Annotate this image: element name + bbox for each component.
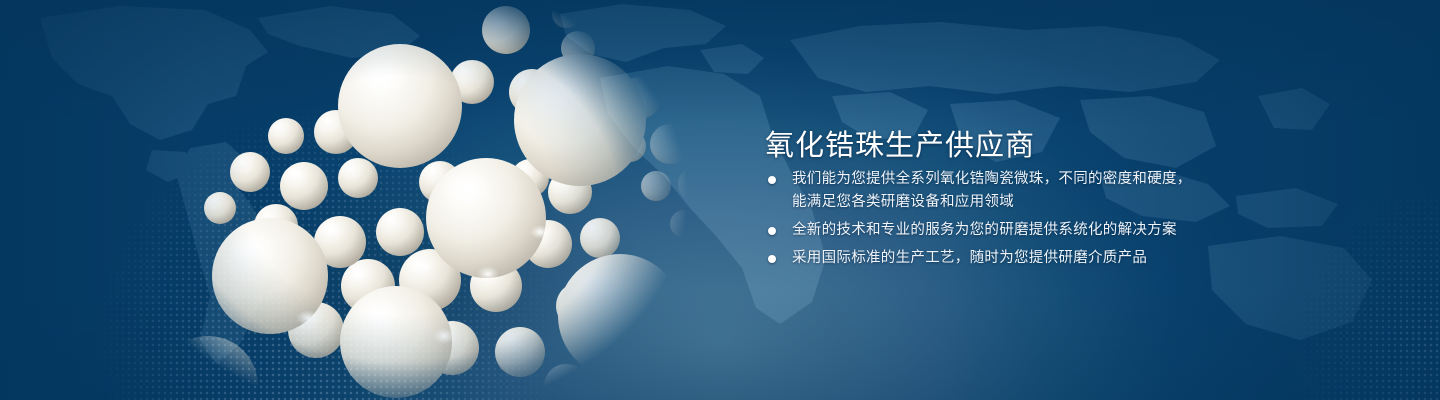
feature-text-line-1: 我们能为您提供全系列氧化锆陶瓷微珠，不同的密度和硬度， <box>792 171 1192 187</box>
filled-circle-bullet-icon <box>768 227 776 235</box>
feature-list-item: 我们能为您提供全系列氧化锆陶瓷微珠，不同的密度和硬度， 能满足您各类研磨设备和应… <box>765 168 1235 214</box>
filled-circle-bullet-icon <box>768 176 776 184</box>
banner-copy: 氧化锆珠生产供应商 我们能为您提供全系列氧化锆陶瓷微珠，不同的密度和硬度， 能满… <box>765 0 1385 400</box>
feature-text-line-1: 采用国际标准的生产工艺，随时为您提供研磨介质产品 <box>792 250 1147 266</box>
feature-text-line-2: 能满足您各类研磨设备和应用领域 <box>792 191 1235 214</box>
feature-list-item: 采用国际标准的生产工艺，随时为您提供研磨介质产品 <box>765 247 1235 270</box>
feature-text-line-1: 全新的技术和专业的服务为您的研磨提供系统化的解决方案 <box>792 222 1177 238</box>
filled-circle-bullet-icon <box>768 255 776 263</box>
banner-feature-list: 我们能为您提供全系列氧化锆陶瓷微珠，不同的密度和硬度， 能满足您各类研磨设备和应… <box>765 168 1235 270</box>
hero-banner: 氧化锆珠生产供应商 我们能为您提供全系列氧化锆陶瓷微珠，不同的密度和硬度， 能满… <box>0 0 1440 400</box>
zirconia-beads-image <box>100 0 760 400</box>
banner-headline: 氧化锆珠生产供应商 <box>765 129 1035 163</box>
feature-list-item: 全新的技术和专业的服务为您的研磨提供系统化的解决方案 <box>765 219 1235 242</box>
